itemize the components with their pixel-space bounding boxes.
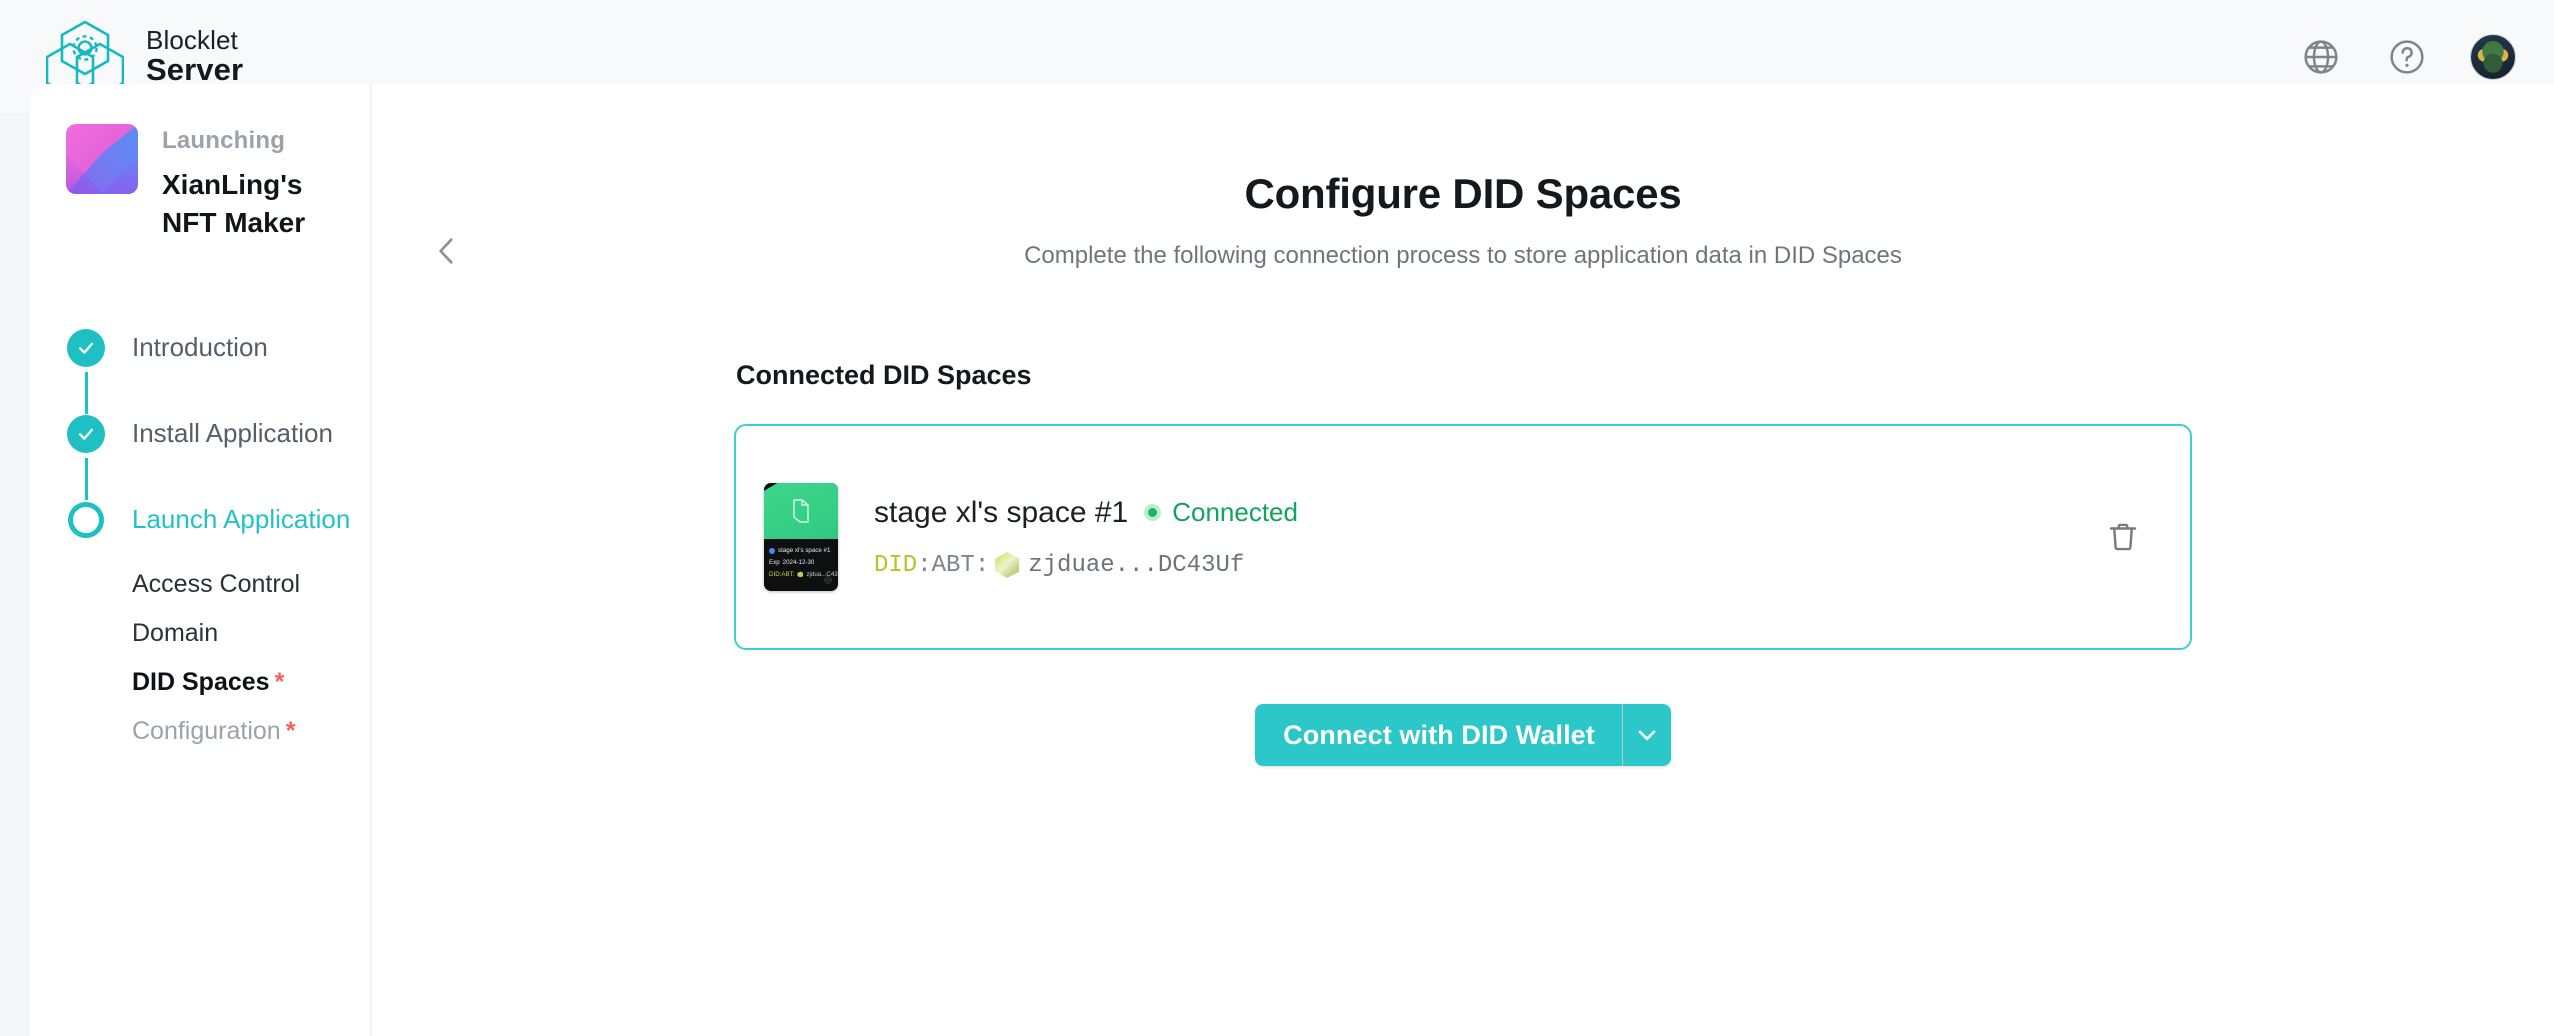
connect-button-row: Connect with DID Wallet — [734, 704, 2192, 766]
did-space-title-row: stage xl's space #1 Connected — [874, 496, 2096, 530]
sidebar-substep-access-control[interactable]: Access Control — [132, 560, 370, 609]
main-content: Connected DID Spaces stage xl's space #1 — [734, 270, 2192, 766]
help-circle-icon[interactable] — [2384, 34, 2430, 80]
top-bar-actions — [2298, 34, 2516, 80]
sidebar-step-install-application[interactable]: Install Application — [66, 406, 370, 492]
nft-maker-app-icon — [66, 124, 138, 194]
substep-label: Domain — [132, 619, 218, 647]
thumbnail-dot-icon — [769, 548, 775, 554]
status-dot-icon — [1144, 504, 1161, 521]
did-space-thumbnail: stage xl's space #1 Exp 2024-12-30 DID:A… — [764, 483, 838, 591]
sidebar: Launching XianLing's NFT Maker Introduct… — [30, 84, 371, 1036]
chevron-left-icon[interactable] — [425, 229, 469, 273]
sidebar-substeps: Access Control Domain DID Spaces* Config… — [132, 560, 370, 756]
sidebar-substep-did-spaces[interactable]: DID Spaces* — [132, 658, 370, 707]
app-name: XianLing's NFT Maker — [162, 166, 344, 242]
sidebar-app-block: Launching XianLing's NFT Maker — [30, 124, 370, 242]
did-prefix: DID — [874, 552, 917, 579]
substep-label: DID Spaces — [132, 668, 270, 696]
app-launch-status: Launching — [162, 127, 344, 155]
globe-icon[interactable] — [2298, 34, 2344, 80]
did-method: :ABT: — [917, 552, 989, 579]
sidebar-substep-domain[interactable]: Domain — [132, 609, 370, 658]
sidebar-step-label: Introduction — [132, 332, 268, 363]
did-space-glyph — [764, 483, 838, 539]
sidebar-step-label: Install Application — [132, 418, 333, 449]
thumbnail-exp-row: Exp 2024-12-30 — [769, 557, 833, 569]
brand-line2: Server — [146, 54, 243, 86]
page-subtitle: Complete the following connection proces… — [372, 242, 2554, 270]
thumbnail-title: stage xl's space #1 — [778, 545, 830, 557]
sidebar-step-label: Launch Application — [132, 504, 350, 535]
sidebar-substep-configuration[interactable]: Configuration* — [132, 707, 370, 756]
main-panel: Configure DID Spaces Complete the follow… — [372, 84, 2554, 1036]
thumbnail-title-row: stage xl's space #1 — [769, 545, 833, 557]
sidebar-app-meta: Launching XianLing's NFT Maker — [162, 124, 344, 242]
brand-line1: Blocklet — [146, 27, 243, 54]
step-marker-active — [66, 500, 106, 540]
required-marker: * — [275, 668, 285, 696]
substep-label: Access Control — [132, 570, 300, 598]
page-header: Configure DID Spaces Complete the follow… — [372, 84, 2554, 270]
brand-text: Blocklet Server — [146, 27, 243, 85]
thumbnail-exp-label: Exp — [769, 557, 780, 569]
thumbnail-did-key: DID:ABT: — [769, 569, 794, 581]
status-label: Connected — [1172, 497, 1298, 528]
status-badge: Connected — [1144, 497, 1298, 528]
required-marker: * — [286, 717, 296, 745]
launch-stepper: Introduction Install Application — [30, 320, 370, 756]
sidebar-step-launch-application[interactable]: Launch Application Access Control Domain… — [66, 492, 370, 756]
step-marker-done — [66, 328, 106, 368]
sidebar-step-introduction[interactable]: Introduction — [66, 320, 370, 406]
connect-with-did-wallet-split-button[interactable]: Connect with DID Wallet — [1255, 704, 1671, 766]
check-icon — [76, 338, 96, 358]
app-root: Blocklet Server — [0, 0, 2554, 1036]
did-identifier-row: DID :ABT: zjduae...DC43Uf — [874, 552, 2096, 579]
check-icon — [76, 424, 96, 444]
section-title: Connected DID Spaces — [736, 360, 2192, 391]
substep-label: Configuration — [132, 717, 281, 745]
thumbnail-exp-value: 2024-12-30 — [783, 557, 815, 569]
trash-icon[interactable] — [2096, 510, 2150, 564]
did-avatar-hex-icon — [995, 552, 1019, 578]
did-space-card[interactable]: stage xl's space #1 Exp 2024-12-30 DID:A… — [734, 424, 2192, 650]
thumbnail-corner-icon — [823, 575, 833, 585]
did-space-name: stage xl's space #1 — [874, 496, 1128, 530]
thumbnail-did-hex-icon — [797, 571, 803, 577]
did-value: zjduae...DC43Uf — [1028, 552, 1244, 579]
page-title: Configure DID Spaces — [372, 170, 2554, 218]
did-space-info: stage xl's space #1 Connected DID :ABT: … — [874, 496, 2096, 579]
step-marker-done — [66, 414, 106, 454]
connect-with-did-wallet-button[interactable]: Connect with DID Wallet — [1255, 704, 1622, 766]
user-avatar[interactable] — [2470, 34, 2516, 80]
chevron-down-icon[interactable] — [1623, 704, 1671, 766]
